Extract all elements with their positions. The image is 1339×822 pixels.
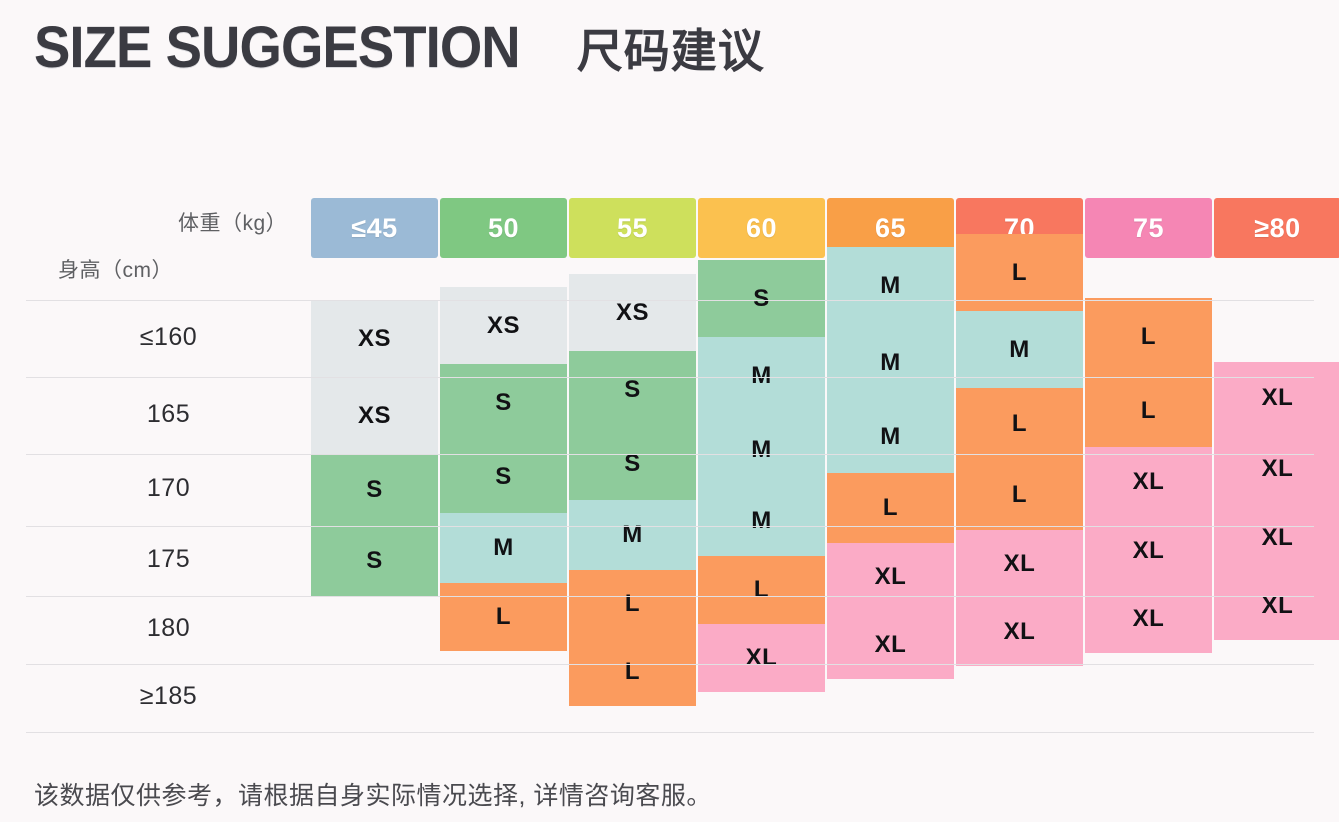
size-cell-165-65[interactable]: M <box>827 324 954 401</box>
weight-header-label: ≤45 <box>351 213 397 244</box>
size-cell-label: XL <box>746 644 778 672</box>
size-cell-label: M <box>1009 336 1030 364</box>
size-cell-170-65[interactable]: M <box>827 401 954 473</box>
size-cell-blocks: XSXSSSXSSSMLXSSSMLLSMMMLXLMMMLXLXLLMLLXL… <box>311 300 1314 740</box>
height-row-label: 180 <box>147 614 190 642</box>
size-cell-label: S <box>624 376 641 404</box>
height-row-label-4: 180 <box>26 614 311 643</box>
size-cell-label: L <box>1141 323 1156 351</box>
size-cell-label: M <box>880 423 901 451</box>
size-cell-label: M <box>751 436 772 464</box>
size-cell-170-55[interactable]: S <box>569 428 696 500</box>
size-cell-label: L <box>625 590 640 618</box>
row-separator <box>26 454 1314 455</box>
size-cell-label: L <box>625 658 640 686</box>
title-english: SIZE SUGGESTION <box>34 14 520 81</box>
height-row-label: ≥185 <box>140 682 197 710</box>
size-cell-175-70[interactable]: L <box>956 460 1083 530</box>
size-cell-170-75[interactable]: L <box>1085 375 1212 447</box>
weight-header-label: 50 <box>488 213 519 244</box>
size-cell-175-55[interactable]: M <box>569 500 696 570</box>
size-cell-≤160-55[interactable]: XS <box>569 274 696 351</box>
title-chinese: 尺码建议 <box>577 15 765 81</box>
weight-header-2[interactable]: 55 <box>569 198 696 258</box>
weight-axis-caption: 体重（kg） <box>178 207 287 237</box>
size-cell-label: XL <box>1004 550 1036 578</box>
size-cell-label: XL <box>1262 524 1294 552</box>
height-row-label: ≤160 <box>140 323 197 351</box>
size-cell-label: XL <box>1004 618 1036 646</box>
size-cell-label: XL <box>875 631 907 659</box>
row-separator <box>26 300 1314 301</box>
size-cell-170-60[interactable]: M <box>698 414 825 486</box>
size-cell-≥185-65[interactable]: XL <box>827 611 954 679</box>
size-cell-label: L <box>883 494 898 522</box>
size-cell-175-60[interactable]: M <box>698 486 825 556</box>
size-cell-label: M <box>880 349 901 377</box>
size-cell-label: M <box>880 272 901 300</box>
size-cell-label: L <box>754 576 769 604</box>
weight-header-row: ≤45505560657075≥80 <box>311 198 1339 258</box>
size-cell-label: S <box>366 476 383 504</box>
row-separator <box>26 732 1314 733</box>
weight-header-label: 55 <box>617 213 648 244</box>
size-cell-175-≥80[interactable]: XL <box>1214 434 1339 504</box>
height-row-label-2: 170 <box>26 474 311 503</box>
size-cell-label: S <box>366 547 383 575</box>
size-cell-label: M <box>751 362 772 390</box>
size-cell-180-50[interactable]: L <box>440 583 567 651</box>
size-cell-label: XS <box>358 325 391 353</box>
size-cell-180-≥80[interactable]: XL <box>1214 504 1339 572</box>
size-cell-165-≤45[interactable]: XS <box>311 377 438 454</box>
size-cell-175-50[interactable]: M <box>440 513 567 583</box>
weight-header-6[interactable]: 75 <box>1085 198 1212 258</box>
height-row-label-0: ≤160 <box>26 323 311 352</box>
size-cell-≥185-55[interactable]: L <box>569 638 696 706</box>
size-cell-≤160-60[interactable]: S <box>698 260 825 337</box>
size-cell-label: XL <box>1133 537 1165 565</box>
size-cell-label: XS <box>616 299 649 327</box>
size-cell-175-≤45[interactable]: S <box>311 526 438 596</box>
size-cell-180-60[interactable]: L <box>698 556 825 624</box>
size-cell-label: M <box>751 507 772 535</box>
size-cell-label: L <box>1012 259 1027 287</box>
weight-header-3[interactable]: 60 <box>698 198 825 258</box>
row-separator <box>26 526 1314 527</box>
height-row-label: 175 <box>147 545 190 573</box>
height-row-label-1: 165 <box>26 400 311 429</box>
weight-header-0[interactable]: ≤45 <box>311 198 438 258</box>
size-grid: XSXSSSXSSSMLXSSSMLLSMMMLXLMMMLXLXLLMLLXL… <box>26 300 1314 740</box>
size-cell-label: S <box>495 389 512 417</box>
weight-header-label: 65 <box>875 213 906 244</box>
size-cell-≤160-50[interactable]: XS <box>440 287 567 364</box>
size-cell-label: XL <box>1133 605 1165 633</box>
size-cell-label: L <box>1012 481 1027 509</box>
size-cell-label: S <box>495 463 512 491</box>
size-cell-label: XS <box>358 402 391 430</box>
weight-header-label: ≥80 <box>1254 213 1300 244</box>
size-cell-label: M <box>493 534 514 562</box>
page-title: SIZE SUGGESTION 尺码建议 <box>34 14 765 81</box>
height-row-label-5: ≥185 <box>26 682 311 711</box>
size-cell-≥185-70[interactable]: XL <box>956 598 1083 666</box>
size-cell-label: S <box>753 285 770 313</box>
size-cell-175-65[interactable]: L <box>827 473 954 543</box>
row-separator <box>26 377 1314 378</box>
size-cell-label: XL <box>1262 455 1294 483</box>
size-cell-label: XL <box>1262 384 1294 412</box>
size-cell-label: L <box>496 603 511 631</box>
height-axis-caption: 身高（cm） <box>58 254 173 284</box>
weight-header-1[interactable]: 50 <box>440 198 567 258</box>
disclaimer-note: 该数据仅供参考，请根据自身实际情况选择, 详情咨询客服。 <box>34 776 712 812</box>
height-row-label: 165 <box>147 400 190 428</box>
size-cell-label: XS <box>487 312 520 340</box>
weight-header-label: 75 <box>1133 213 1164 244</box>
size-cell-label: L <box>1012 410 1027 438</box>
size-cell-label: L <box>1141 397 1156 425</box>
weight-header-label: 60 <box>746 213 777 244</box>
row-separator <box>26 664 1314 665</box>
weight-header-7[interactable]: ≥80 <box>1214 198 1339 258</box>
row-separator <box>26 596 1314 597</box>
size-cell-label: XL <box>1133 468 1165 496</box>
size-cell-≥185-60[interactable]: XL <box>698 624 825 692</box>
size-cell-label: XL <box>875 563 907 591</box>
size-cell-170-50[interactable]: S <box>440 441 567 513</box>
height-row-label-3: 175 <box>26 545 311 574</box>
height-row-label: 170 <box>147 474 190 502</box>
size-cell-180-75[interactable]: XL <box>1085 517 1212 585</box>
size-cell-≥185-≥80[interactable]: XL <box>1214 572 1339 640</box>
